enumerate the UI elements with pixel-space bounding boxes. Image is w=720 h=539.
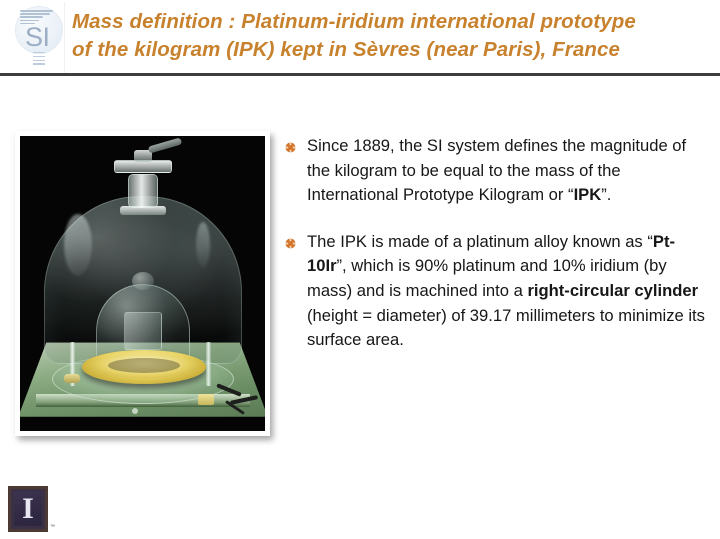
cable-plug [198, 394, 214, 405]
yellow-support-ring-core [108, 358, 180, 373]
header-divider-rule [0, 73, 720, 76]
presentation-slide: SI Mass definition : Platinum-iridium in… [0, 0, 720, 539]
inner-bell-jar-knob [132, 272, 154, 290]
ipk-photo [20, 136, 265, 431]
institution-logo-plate: I [8, 486, 48, 532]
title-line-1: Mass definition : Platinum-iridium inter… [72, 8, 708, 36]
si-logo-footer-lines [33, 52, 45, 72]
slide-body: Since 1889, the SI system defines the ma… [285, 134, 710, 353]
orange-diamond-bullet-icon [285, 238, 296, 249]
bullet-text-2: The IPK is made of a platinum alloy know… [307, 230, 710, 353]
left-clip [64, 374, 80, 383]
kilogram-cylinder [124, 312, 162, 350]
cable-clamp [216, 382, 260, 414]
si-logo-label: SI [25, 22, 50, 53]
outer-bell-jar-highlight-left [64, 214, 92, 276]
vacuum-valve-stem [148, 137, 183, 153]
trademark-mark: ™ [50, 524, 56, 530]
ipk-photo-frame [15, 131, 270, 436]
si-system-logo: SI [13, 2, 66, 72]
orange-diamond-bullet-icon [285, 142, 296, 153]
institution-logo-letter: I [11, 489, 45, 529]
outer-bell-jar-highlight-right [196, 222, 210, 268]
slide-title: Mass definition : Platinum-iridium inter… [72, 8, 708, 64]
bullet-item: Since 1889, the SI system defines the ma… [285, 134, 710, 208]
institution-logo: I [8, 486, 48, 532]
plate-reflection-bead [132, 408, 138, 414]
support-post-right [206, 342, 211, 386]
title-line-2: of the kilogram (IPK) kept in Sèvres (ne… [72, 36, 708, 64]
bullet-item: The IPK is made of a platinum alloy know… [285, 230, 710, 353]
bell-jar-neck [128, 174, 158, 208]
si-logo-divider [64, 2, 65, 74]
bullet-text-1: Since 1889, the SI system defines the ma… [307, 134, 710, 208]
slide-header: SI Mass definition : Platinum-iridium in… [0, 0, 720, 74]
